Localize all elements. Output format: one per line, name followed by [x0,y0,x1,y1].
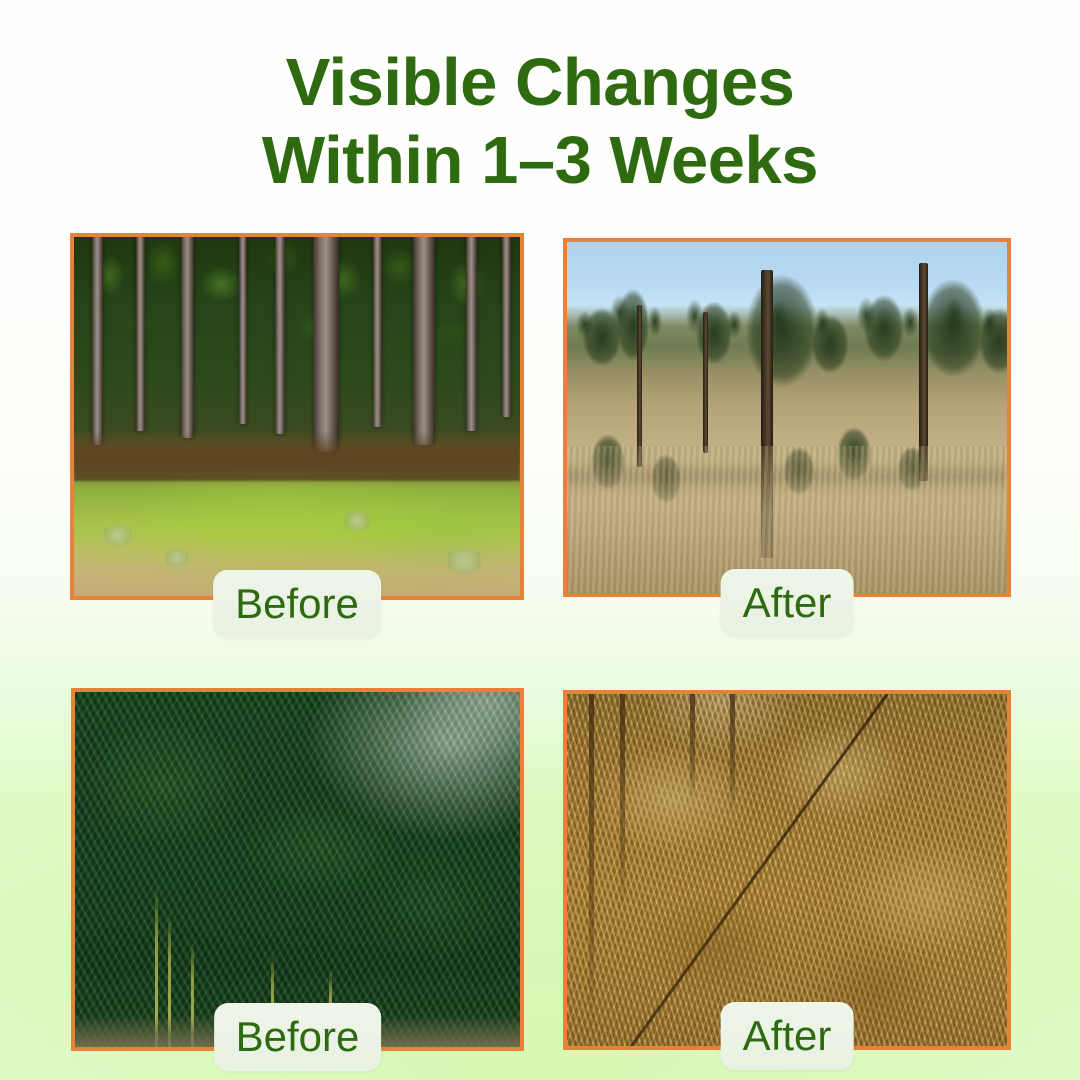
photo-frame [71,688,524,1051]
photo-dense-forest [74,237,520,596]
comparison-card-row1-after: After [563,238,1011,597]
page-title-line-2: Within 1–3 Weeks [0,122,1080,200]
photo-dried-vegetation [567,694,1007,1046]
bamboo-foliage [75,692,520,1047]
poster-canvas: Visible Changes Within 1–3 Weeks [0,0,1080,1080]
label-after-row2: After [721,1002,854,1070]
photo-bamboo-grove [75,692,520,1047]
comparison-card-row1-before: Before [70,233,524,600]
label-after-row1: After [721,569,854,637]
comparison-card-row2-before: Before [71,688,524,1051]
label-before-row2: Before [214,1003,382,1071]
photo-frame [70,233,524,600]
photo-frame [563,690,1011,1050]
photo-frame [563,238,1011,597]
label-before-row1: Before [213,570,381,638]
photo-thinned-forest [567,242,1007,593]
forest-litter [74,431,520,481]
page-title: Visible Changes Within 1–3 Weeks [0,44,1080,199]
color-mottling [567,694,1007,1046]
comparison-card-row2-after: After [563,690,1011,1050]
page-title-line-1: Visible Changes [0,44,1080,122]
